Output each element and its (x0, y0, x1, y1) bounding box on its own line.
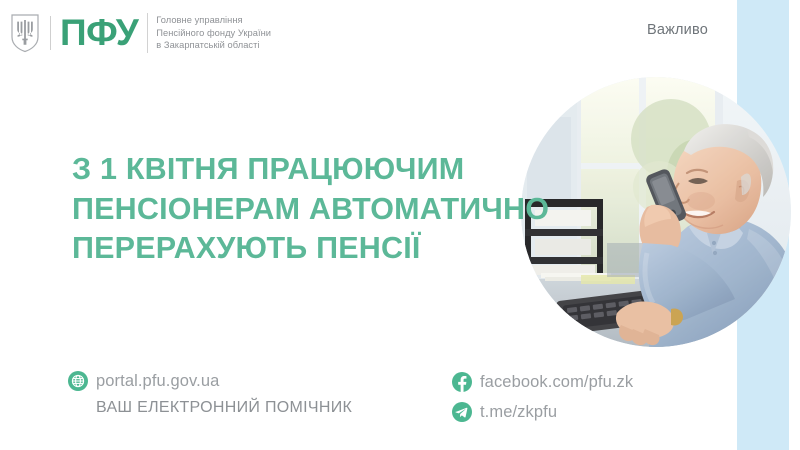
poster-canvas: ПФУ Головне управління Пенсійного фонду … (0, 0, 800, 450)
header: ПФУ Головне управління Пенсійного фонду … (0, 0, 800, 68)
footer: portal.pfu.gov.ua ВАШ ЕЛЕКТРОННИЙ ПОМІЧН… (0, 368, 800, 440)
department-name: Головне управління Пенсійного фонду Укра… (156, 14, 271, 52)
headline: З 1 КВІТНЯ ПРАЦЮЮЧИМ ПЕНСІОНЕРАМ АВТОМАТ… (72, 150, 542, 269)
brand-lockup: ПФУ Головне управління Пенсійного фонду … (10, 8, 271, 58)
portal-link-text: portal.pfu.gov.ua (96, 371, 219, 391)
facebook-link-text: facebook.com/pfu.zk (480, 372, 633, 392)
important-label: Важливо (647, 21, 708, 39)
globe-icon (68, 371, 88, 391)
hero-photo (521, 77, 791, 347)
telegram-link-text: t.me/zkpfu (480, 402, 557, 422)
headline-line-3: ПЕРЕРАХУЮТЬ ПЕНСІЇ (72, 229, 542, 269)
department-line-1: Головне управління (156, 15, 242, 25)
telegram-icon (452, 402, 472, 422)
portal-link-row[interactable]: portal.pfu.gov.ua (68, 368, 352, 394)
footer-social-group: facebook.com/pfu.zk t.me/zkpfu (452, 369, 633, 425)
department-line-2: Пенсійного фонду України (156, 28, 271, 38)
headline-line-2: ПЕНСІОНЕРАМ АВТОМАТИЧНО (72, 190, 542, 230)
portal-subtitle: ВАШ ЕЛЕКТРОННИЙ ПОМІЧНИК (68, 398, 352, 418)
ukraine-trident-coat-of-arms-icon (10, 13, 40, 53)
telegram-link-row[interactable]: t.me/zkpfu (452, 399, 633, 425)
brand-abbreviation: ПФУ (60, 14, 138, 51)
facebook-link-row[interactable]: facebook.com/pfu.zk (452, 369, 633, 395)
department-line-3: в Закарпатській області (156, 40, 259, 50)
brand-divider (50, 16, 51, 50)
brand-divider-secondary (147, 13, 148, 53)
headline-line-1: З 1 КВІТНЯ ПРАЦЮЮЧИМ (72, 150, 542, 190)
footer-portal-group: portal.pfu.gov.ua ВАШ ЕЛЕКТРОННИЙ ПОМІЧН… (68, 368, 352, 418)
facebook-icon (452, 372, 472, 392)
